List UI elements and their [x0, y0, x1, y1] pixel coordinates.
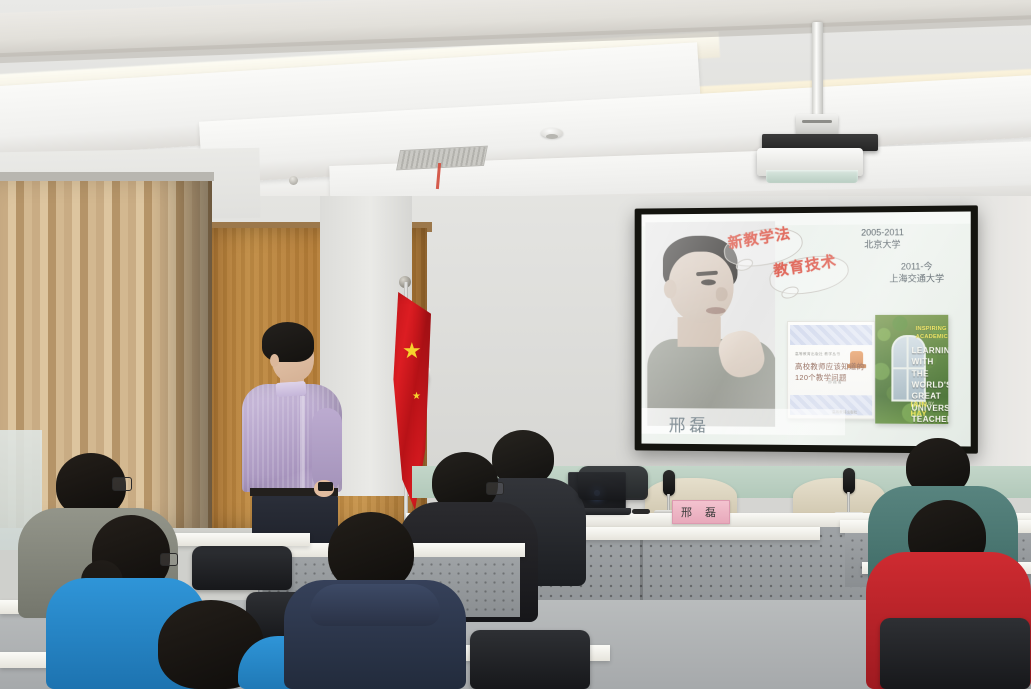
presenter-shirt-placket: [300, 396, 305, 488]
book-en-title-line1: LEARNING: [912, 345, 947, 357]
presenter-ear: [270, 354, 279, 367]
presenter-collar: [276, 381, 307, 397]
affiliation-2-name: 上海交通大学: [889, 273, 944, 285]
slide-affiliation-2: 2011-今 上海交通大学: [889, 260, 944, 285]
classroom-chair[interactable]: [880, 618, 1030, 689]
flag-star-small: ★: [412, 392, 421, 402]
presenter: [236, 322, 346, 542]
slide-content: 新教学法 教育技术 2005-2011 北京大学 2011-今 上海交通大学 高…: [641, 211, 970, 446]
projection-screen: 新教学法 教育技术 2005-2011 北京大学 2011-今 上海交通大学 高…: [635, 205, 978, 453]
flag-star-large: ★: [402, 340, 422, 362]
smoke-detector-icon: [541, 128, 563, 138]
book-en-author: IAIN HAY: [911, 400, 946, 418]
ceiling-fitting: [289, 176, 298, 185]
classroom-chair[interactable]: [470, 630, 590, 689]
curtain-shadow: [150, 176, 212, 528]
presenter-arm: [312, 408, 342, 490]
slide-name-banner: 邢磊: [641, 408, 845, 435]
book-cn-series: 高等教育出版社 教学丛书: [795, 352, 840, 357]
classroom-chair[interactable]: [578, 466, 648, 500]
audience-hood: [310, 584, 440, 626]
slide-presenter-name: 邢磊: [669, 411, 710, 436]
affiliation-2-years: 2011-今: [889, 260, 944, 273]
projector-mount-bracket: [796, 114, 838, 136]
presenter-clicker-remote: [318, 482, 333, 491]
book-cn-author: 邢 磊 著: [828, 380, 842, 385]
slide-affiliation-1: 2005-2011 北京大学: [861, 226, 904, 251]
glasses-icon: [160, 553, 178, 566]
desk-remote-control[interactable]: [632, 509, 650, 514]
book-en-title-line2: WITH THE: [912, 357, 947, 380]
desk-nameplate: 邢 磊: [672, 500, 730, 524]
glasses-icon: [112, 477, 132, 491]
classroom-desk: [560, 527, 820, 540]
projector-lens-icon: [766, 170, 858, 183]
desk-nameplate-text: 邢 磊: [681, 504, 721, 520]
classroom-chair[interactable]: [192, 546, 292, 590]
curtain-rail: [0, 172, 214, 181]
classroom-desk: [160, 533, 310, 546]
glasses-icon: [486, 482, 504, 495]
slide-book-cover-chinese: 高等教育出版社 教学丛书 高校教师应该知道的 120个教学问题 邢 磊 著 高等…: [787, 321, 875, 420]
affiliation-1-name: 北京大学: [861, 238, 904, 250]
affiliation-1-years: 2005-2011: [861, 226, 904, 239]
slide-book-cover-english: INSPIRING ACADEMICS LEARNING WITH THE WO…: [875, 315, 948, 424]
book-cn-title-line1: 高校教师应该知道的: [795, 362, 864, 373]
book-en-kicker: INSPIRING ACADEMICS: [916, 325, 947, 342]
projector-mount-pole: [812, 22, 823, 118]
lecture-hall-photo: 新教学法 教育技术 2005-2011 北京大学 2011-今 上海交通大学 高…: [0, 0, 1031, 689]
book-en-title-line3: WORLD'S: [912, 379, 947, 391]
